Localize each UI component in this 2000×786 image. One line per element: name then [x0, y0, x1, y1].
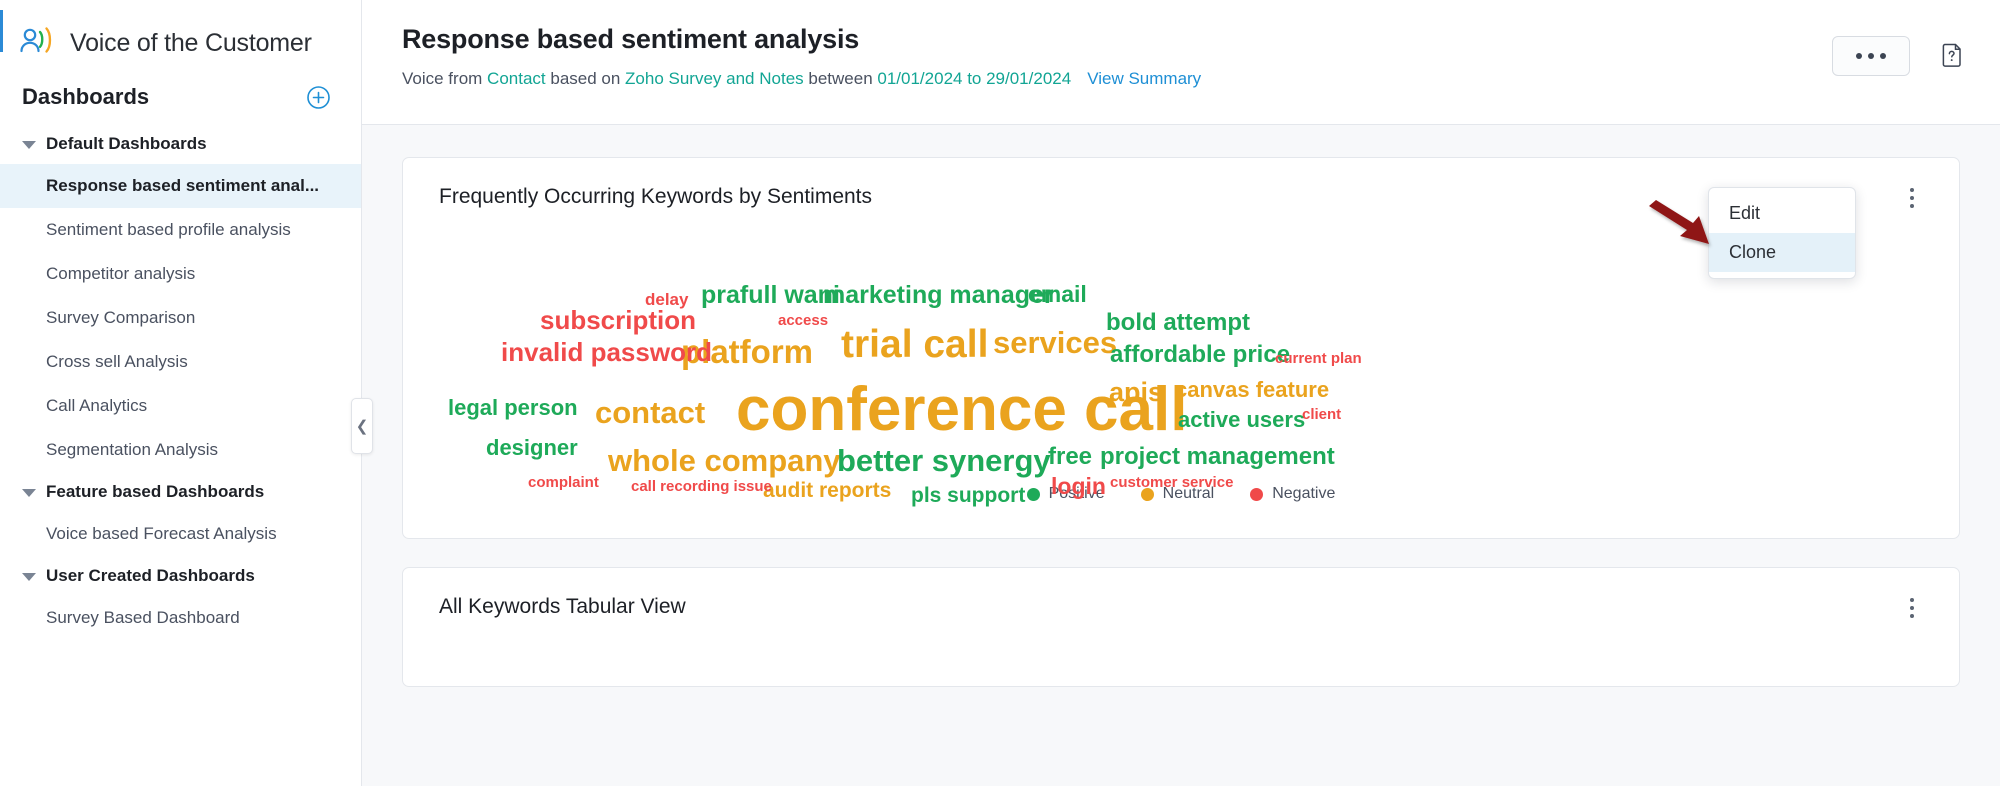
- subtitle-prefix: Voice from: [402, 69, 487, 88]
- chevron-down-icon: [22, 489, 36, 497]
- chevron-left-icon: ❮: [356, 419, 369, 434]
- dashboard-group-header[interactable]: User Created Dashboards: [0, 556, 361, 596]
- dashboard-group-header[interactable]: Default Dashboards: [0, 124, 361, 164]
- app-root: Voice of the Customer Dashboards Default…: [0, 0, 2000, 786]
- help-document-icon[interactable]: [1936, 41, 1966, 71]
- sidebar-collapse-handle[interactable]: ❮: [351, 398, 373, 454]
- legend-color-dot: [1250, 488, 1263, 501]
- ellipsis-icon: [1856, 53, 1862, 59]
- sidebar: Voice of the Customer Dashboards Default…: [0, 0, 362, 786]
- card-title: All Keywords Tabular View: [439, 595, 686, 619]
- more-options-button[interactable]: [1832, 36, 1910, 76]
- word-cloud-term[interactable]: apis: [1109, 379, 1163, 406]
- sidebar-item-dashboard[interactable]: Sentiment based profile analysis: [0, 208, 361, 252]
- dashboard-group-label: Default Dashboards: [46, 134, 207, 154]
- sidebar-item-dashboard[interactable]: Competitor analysis: [0, 252, 361, 296]
- word-cloud-term[interactable]: designer: [486, 437, 578, 459]
- word-cloud-term[interactable]: call recording issue: [631, 479, 772, 494]
- view-summary-link[interactable]: View Summary: [1087, 69, 1201, 88]
- subtitle-mid1: based on: [546, 69, 625, 88]
- word-cloud-term[interactable]: services: [993, 327, 1117, 358]
- card-title: Frequently Occurring Keywords by Sentime…: [439, 185, 872, 209]
- word-cloud-term[interactable]: marketing manager: [823, 283, 1054, 308]
- word-cloud-term[interactable]: canvas feature: [1175, 379, 1329, 401]
- sidebar-item-dashboard[interactable]: Voice based Forecast Analysis: [0, 512, 361, 556]
- subtitle-mid2: between: [804, 69, 878, 88]
- sidebar-item-dashboard[interactable]: Response based sentiment anal...: [0, 164, 361, 208]
- page-title: Response based sentiment analysis: [402, 24, 1960, 55]
- main-content: Response based sentiment analysis Voice …: [362, 0, 2000, 786]
- sidebar-item-dashboard[interactable]: Segmentation Analysis: [0, 428, 361, 472]
- kebab-dot: [1910, 606, 1914, 610]
- word-cloud-term[interactable]: client: [1302, 407, 1341, 422]
- voice-customer-icon: [18, 26, 56, 60]
- sidebar-item-dashboard[interactable]: Call Analytics: [0, 384, 361, 428]
- brand-title: Voice of the Customer: [70, 29, 312, 58]
- word-cloud-term[interactable]: delay: [645, 291, 688, 308]
- chevron-down-icon: [22, 573, 36, 581]
- sidebar-item-dashboard[interactable]: Survey Comparison: [0, 296, 361, 340]
- word-cloud-term[interactable]: bold attempt: [1106, 311, 1250, 335]
- brand-accent-bar: [0, 10, 3, 52]
- word-cloud-term[interactable]: trial call: [841, 325, 988, 364]
- word-cloud-term[interactable]: email: [1028, 283, 1087, 306]
- dashboard-groups: Default DashboardsResponse based sentime…: [0, 124, 361, 640]
- card-context-menu: EditClone: [1708, 187, 1856, 279]
- card-header: All Keywords Tabular View: [403, 568, 1959, 621]
- word-cloud-term[interactable]: project management: [1100, 445, 1335, 469]
- word-cloud-term[interactable]: whole company: [608, 445, 841, 476]
- context-menu-item[interactable]: Clone: [1709, 233, 1855, 272]
- dashboards-label: Dashboards: [22, 84, 149, 110]
- word-cloud-term[interactable]: login: [1051, 475, 1106, 498]
- legend-item[interactable]: Negative: [1250, 485, 1335, 503]
- kebab-dot: [1910, 188, 1914, 192]
- sidebar-item-dashboard[interactable]: Survey Based Dashboard: [0, 596, 361, 640]
- dashboard-group-label: Feature based Dashboards: [46, 482, 264, 502]
- all-keywords-table-card: All Keywords Tabular View: [402, 567, 1960, 687]
- word-cloud-term[interactable]: prafull wani: [701, 283, 840, 308]
- word-cloud-term[interactable]: complaint: [528, 475, 599, 490]
- kebab-dot: [1910, 204, 1914, 208]
- context-menu-item[interactable]: Edit: [1709, 194, 1855, 233]
- word-cloud-term[interactable]: pls support: [911, 485, 1025, 506]
- legend-label: Negative: [1272, 485, 1335, 503]
- word-cloud-term[interactable]: subscription: [540, 307, 696, 333]
- ellipsis-icon: [1868, 53, 1874, 59]
- kebab-dot: [1910, 196, 1914, 200]
- word-cloud-term[interactable]: current plan: [1275, 351, 1362, 366]
- word-cloud-term[interactable]: contact: [595, 397, 705, 428]
- word-cloud-term[interactable]: invalid password: [501, 339, 712, 365]
- brand[interactable]: Voice of the Customer: [0, 18, 361, 68]
- subtitle-dataset[interactable]: Zoho Survey and Notes: [625, 69, 804, 88]
- header-actions: [1832, 36, 1966, 76]
- kebab-menu-icon[interactable]: [1901, 185, 1923, 211]
- chevron-down-icon: [22, 141, 36, 149]
- word-cloud-term[interactable]: customer service: [1110, 475, 1233, 490]
- page-subtitle: Voice from Contact based on Zoho Survey …: [402, 69, 1960, 89]
- dashboard-group-label: User Created Dashboards: [46, 566, 255, 586]
- word-cloud-term[interactable]: active users: [1178, 409, 1305, 431]
- word-cloud-term[interactable]: legal person: [448, 397, 578, 419]
- page-header: Response based sentiment analysis Voice …: [362, 0, 2000, 125]
- word-cloud-term[interactable]: audit reports: [763, 480, 891, 501]
- kebab-menu-icon[interactable]: [1901, 595, 1923, 621]
- kebab-dot: [1910, 614, 1914, 618]
- subtitle-daterange[interactable]: 01/01/2024 to 29/01/2024: [877, 69, 1071, 88]
- word-cloud-term[interactable]: free: [1048, 445, 1092, 469]
- sidebar-item-dashboard[interactable]: Cross sell Analysis: [0, 340, 361, 384]
- plus-circle-icon[interactable]: [306, 85, 331, 110]
- word-cloud-term[interactable]: access: [778, 313, 828, 328]
- legend-color-dot: [1027, 488, 1040, 501]
- subtitle-source[interactable]: Contact: [487, 69, 546, 88]
- word-cloud-term[interactable]: better synergy: [837, 445, 1051, 476]
- ellipsis-icon: [1880, 53, 1886, 59]
- word-cloud-term[interactable]: affordable price: [1110, 343, 1290, 367]
- dashboard-group-header[interactable]: Feature based Dashboards: [0, 472, 361, 512]
- kebab-dot: [1910, 598, 1914, 602]
- dashboards-header: Dashboards: [0, 68, 361, 124]
